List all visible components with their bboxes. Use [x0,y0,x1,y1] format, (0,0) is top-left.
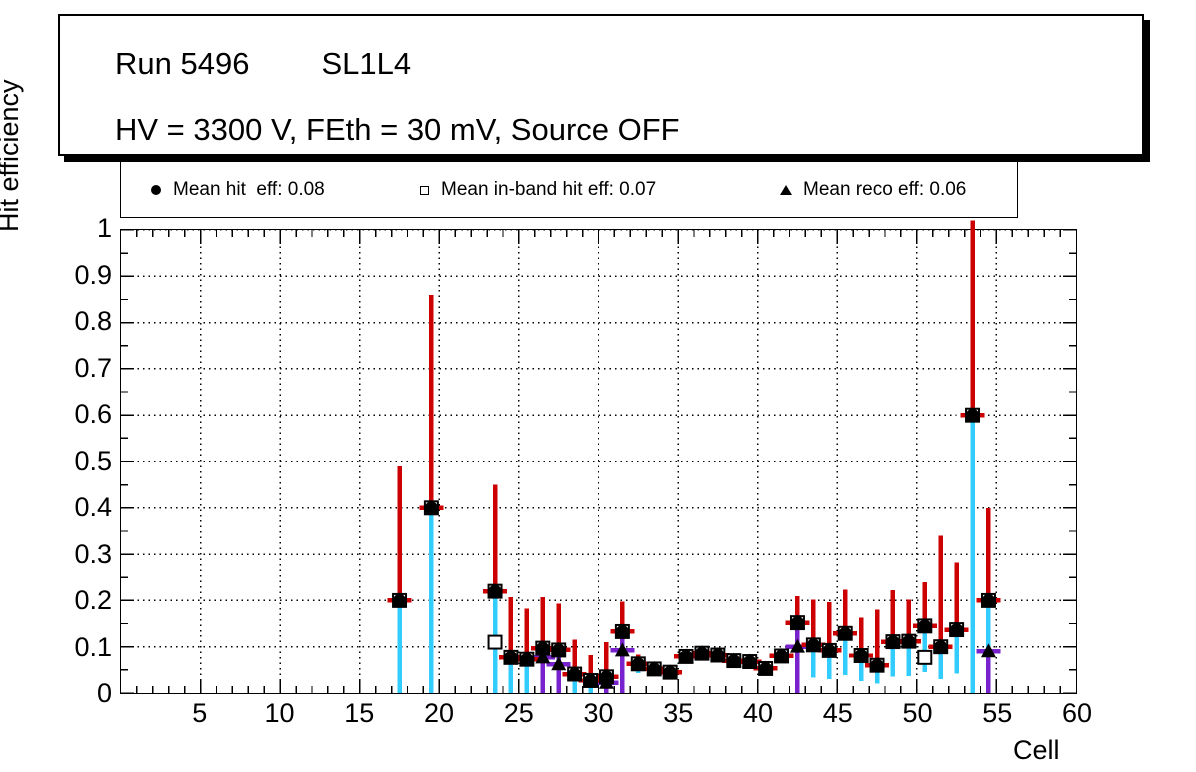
filled-triangle-icon [769,185,803,195]
hit-marker [536,642,549,655]
y-tick-label: 0.3 [74,541,112,568]
title-line-run: Run 5496SL1L4 [115,46,411,82]
legend-entry-reco-eff: Mean reco eff: 0.06 [769,161,966,219]
y-tick-label: 0.2 [74,587,112,614]
legend-label-inband-eff: Mean in-band hit eff: 0.07 [441,179,656,201]
hit-marker [648,662,661,675]
legend-label-reco-eff: Mean reco eff: 0.06 [803,179,966,201]
y-tick-label: 0.8 [74,308,112,335]
x-tick-label: 60 [1042,700,1112,727]
hit-marker [504,651,517,664]
hit-marker [775,649,788,662]
hit-marker [807,638,820,651]
y-tick-label: 0.9 [74,262,112,289]
x-axis-title: Cell [1013,735,1060,766]
hit-marker [727,654,740,667]
x-tick-label: 20 [404,700,474,727]
hit-error-bar [419,295,443,508]
hit-marker [743,655,756,668]
hit-marker [855,649,868,662]
y-tick-label: 0.4 [74,494,112,521]
title-box: Run 5496SL1L4 HV = 3300 V, FEth = 30 mV,… [58,14,1144,156]
hit-marker [759,662,772,675]
hit-marker [425,501,438,514]
hit-error-bar [945,562,969,629]
x-tick-label: 10 [245,700,315,727]
hit-marker [902,635,915,648]
filled-circle-icon [139,185,173,195]
hit-marker [489,585,502,598]
x-tick-label: 25 [484,700,554,727]
hit-marker [823,644,836,657]
hit-marker [934,640,947,653]
hit-error-bar [976,508,1000,601]
hit-marker [871,659,884,672]
hit-marker [695,647,708,660]
title-run: Run 5496 [115,46,249,81]
hit-marker [616,625,629,638]
hit-marker [982,594,995,607]
x-tick-label: 15 [324,700,394,727]
hit-marker [600,670,613,683]
y-tick-label: 0 [97,680,112,707]
hit-marker [664,666,677,679]
hit-marker [886,635,899,648]
hit-error-bar [961,221,985,415]
reco-error-bar [976,651,1000,693]
legend-entry-hit-eff: Mean hit eff: 0.08 [139,161,325,219]
y-tick-label: 0.7 [74,355,112,382]
y-tick-label: 0.6 [74,401,112,428]
hit-error-bar [483,485,507,591]
plot-frame [120,229,1077,694]
hit-marker [568,668,581,681]
hit-error-bar [388,466,412,600]
x-tick-label: 50 [883,700,953,727]
y-tick-label: 0.1 [74,634,112,661]
x-tick-label: 55 [962,700,1032,727]
x-tick-label: 35 [643,700,713,727]
legend-label-hit-eff: Mean hit eff: 0.08 [173,179,325,201]
hit-marker [791,616,804,629]
inband-marker [918,651,931,664]
hit-marker [393,594,406,607]
y-tick-label: 1 [97,215,112,242]
x-tick-label: 45 [803,700,873,727]
title-superlayer: SL1L4 [321,46,411,81]
x-tick-label: 5 [165,700,235,727]
hit-marker [680,650,693,663]
hit-marker [552,643,565,656]
hit-error-bar [499,597,523,657]
legend-entry-inband-eff: Mean in-band hit eff: 0.07 [407,161,656,219]
title-line-conditions: HV = 3300 V, FEth = 30 mV, Source OFF [115,112,680,148]
chart-canvas: Run 5496SL1L4 HV = 3300 V, FEth = 30 mV,… [0,0,1196,772]
hit-marker [966,409,979,422]
x-tick-label: 40 [723,700,793,727]
y-axis-title: Hit efficiency [0,79,25,232]
y-tick-label: 0.5 [74,448,112,475]
legend: Mean hit eff: 0.08 Mean in-band hit eff:… [120,160,1018,218]
hit-marker [950,623,963,636]
open-square-icon [407,186,441,195]
inband-marker [489,636,502,649]
hit-marker [918,619,931,632]
hit-marker [711,649,724,662]
hit-marker [584,674,597,687]
hit-marker [839,627,852,640]
data-layer [121,230,1076,693]
x-tick-label: 30 [564,700,634,727]
hit-marker [632,657,645,670]
hit-marker [520,653,533,666]
